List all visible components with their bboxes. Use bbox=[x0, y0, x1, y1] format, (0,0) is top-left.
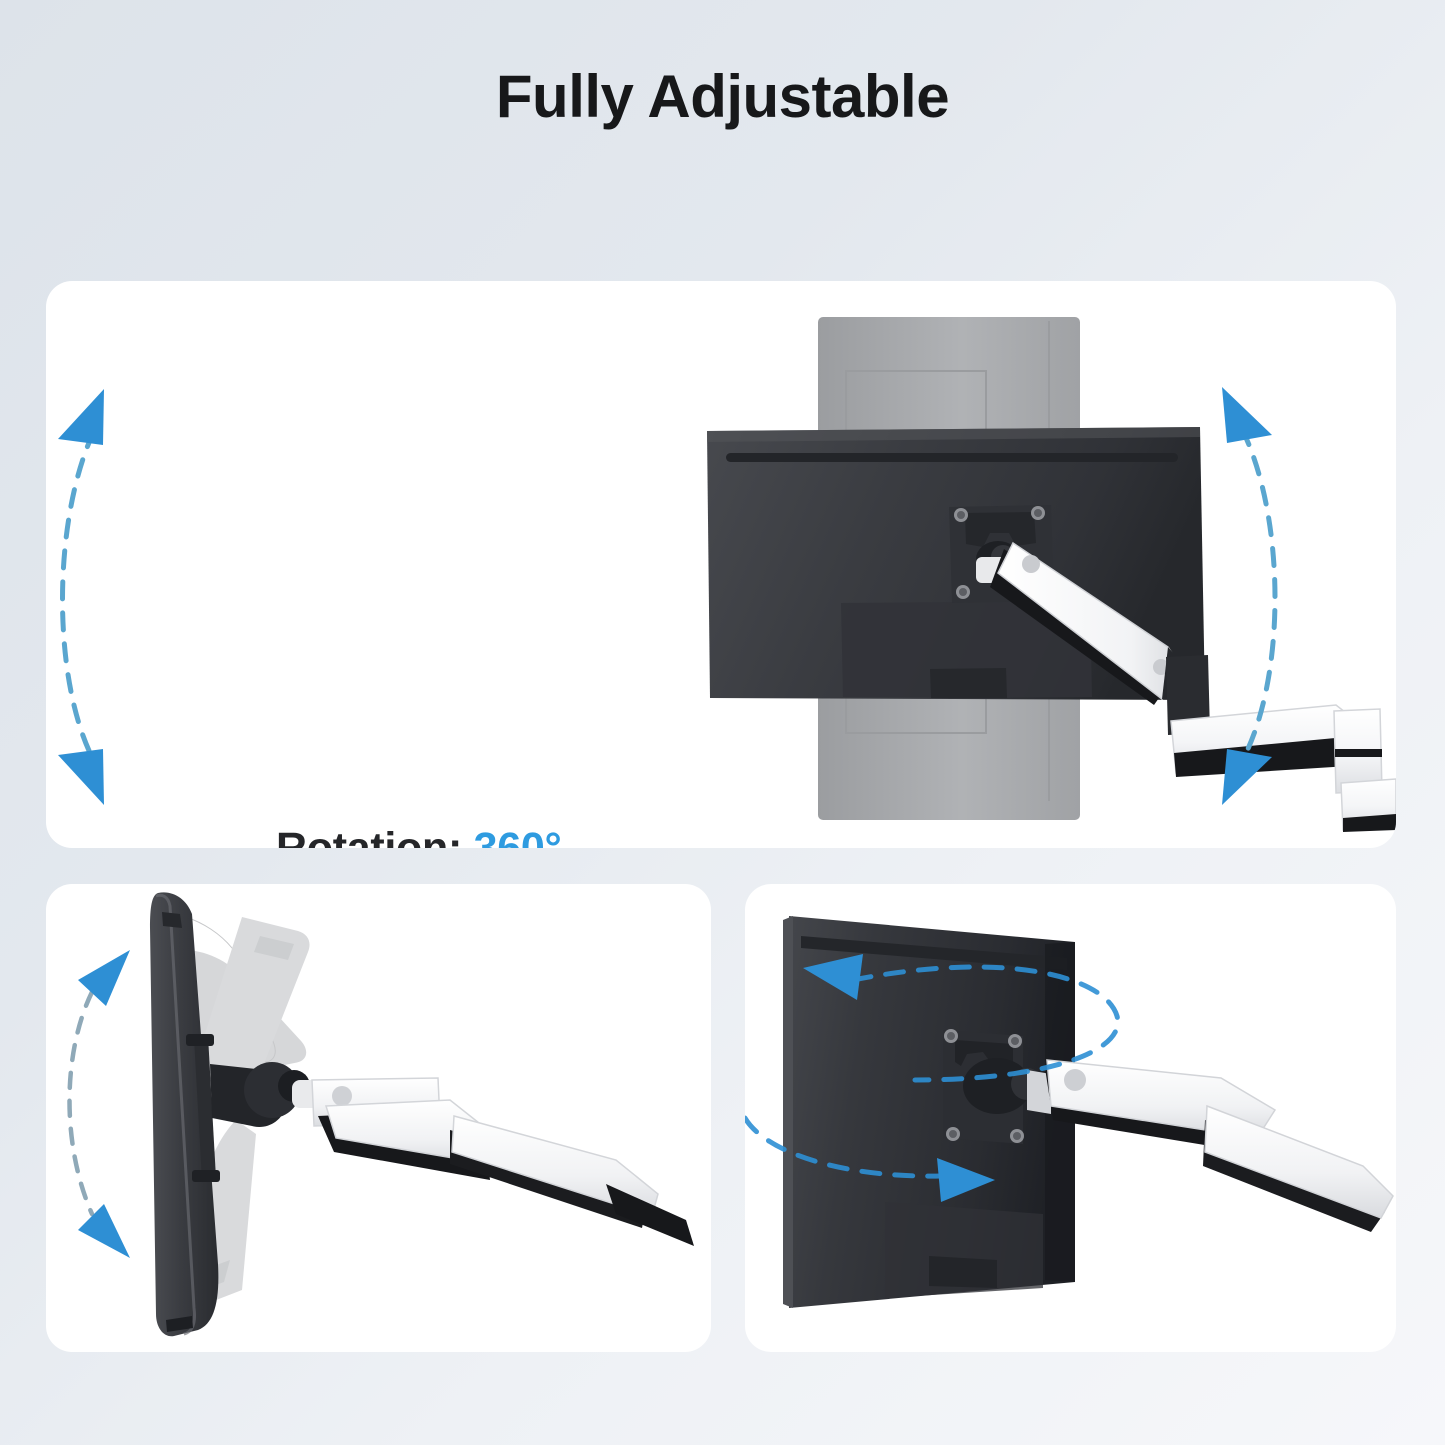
infographic-stage: Fully Adjustable bbox=[0, 0, 1445, 1445]
tilt-illustration bbox=[46, 884, 711, 1352]
tilt-panel: Tilt: +85°/-90° bbox=[46, 884, 711, 1352]
rotation-illustration bbox=[46, 281, 1396, 848]
gas-spring-arm-side bbox=[312, 1078, 694, 1246]
rotation-panel: Rotation: 360° bbox=[46, 281, 1396, 848]
rotation-label-prefix: Rotation: bbox=[276, 824, 474, 848]
rotation-label-value: 360° bbox=[474, 824, 562, 848]
tilt-arc-arrow bbox=[70, 950, 131, 1258]
lower-arm-segment bbox=[1166, 655, 1396, 832]
rotation-arc-arrow-left bbox=[58, 389, 104, 805]
page-title: Fully Adjustable bbox=[0, 62, 1445, 131]
swivel-panel: Swivel: ±90° bbox=[745, 884, 1396, 1352]
swivel-illustration bbox=[745, 884, 1396, 1352]
rotation-spec-label: Rotation: 360° bbox=[276, 824, 561, 848]
gas-spring-arm-swivel bbox=[1045, 1060, 1393, 1232]
